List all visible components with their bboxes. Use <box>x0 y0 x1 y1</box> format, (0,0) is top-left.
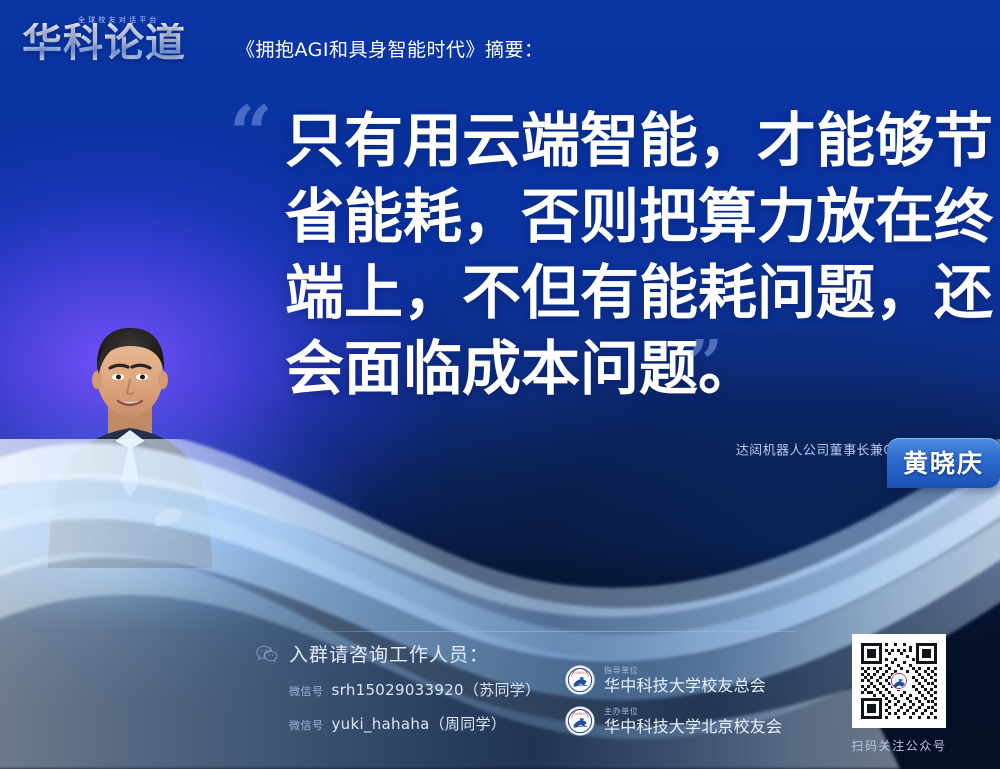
hust-seal-icon: 华中科技大学 <box>565 665 595 695</box>
svg-text:华中科技大学: 华中科技大学 <box>573 712 588 716</box>
quote-line: 会面临成本问题。 <box>285 331 945 407</box>
quote-open-mark: “ <box>229 104 273 165</box>
organization-row: 华中科技大学 指导单位 华中科技大学校友总会 <box>565 665 782 695</box>
quote-text: 只有用云端智能，才能够节 省能耗，否则把算力放在终 端上，不但有能耗问题，还 会… <box>285 103 945 407</box>
wechat-id[interactable]: yuki_hahaha（周同学） <box>332 713 507 734</box>
organization-texts: 主办单位 华中科技大学北京校友会 <box>604 708 782 735</box>
wechat-label: 微信号 <box>289 683 324 699</box>
quote-close-mark: ” <box>687 338 723 388</box>
contact-block: 入群请咨询工作人员： 微信号 srh15029033920（苏同学） 微信号 y… <box>256 640 586 747</box>
header-bar: 全球校友对话平台 华科论道 《拥抱AGI和具身智能时代》摘要： <box>0 0 1000 88</box>
contact-row: 微信号 srh15029033920（苏同学） <box>289 679 586 700</box>
qr-block: 扫码关注公众号 <box>845 634 953 754</box>
speaker-role: 达闼机器人公司董事长兼CEO <box>736 440 912 459</box>
organization-row: 华中科技大学 主办单位 华中科技大学北京校友会 <box>565 706 782 736</box>
organization-name: 华中科技大学北京校友会 <box>604 719 782 735</box>
logo-wordmark: 华科论道 <box>22 23 186 63</box>
qr-code-icon[interactable] <box>852 634 946 728</box>
speaker-name-badge: 黄晓庆 <box>887 438 1000 488</box>
quote-line: 省能耗，否则把算力放在终 <box>285 179 945 255</box>
contact-row: 微信号 yuki_hahaha（周同学） <box>289 713 586 734</box>
poster-canvas: 全球校友对话平台 华科论道 《拥抱AGI和具身智能时代》摘要： “ 只有用云端智… <box>0 0 1000 769</box>
wechat-icon <box>256 645 278 663</box>
organizations-block: 华中科技大学 指导单位 华中科技大学校友总会 华中科技大学 <box>565 665 782 747</box>
svg-text:华中科技大学: 华中科技大学 <box>573 671 588 675</box>
quote-line: 端上，不但有能耗问题，还 <box>285 255 945 331</box>
organization-kind: 主办单位 <box>604 708 782 716</box>
hust-seal-icon: 华中科技大学 <box>565 706 595 736</box>
contact-title: 入群请咨询工作人员： <box>289 640 489 667</box>
wechat-id[interactable]: srh15029033920（苏同学） <box>332 679 541 700</box>
page-title: 《拥抱AGI和具身智能时代》摘要： <box>236 35 544 62</box>
qr-caption: 扫码关注公众号 <box>845 737 953 754</box>
brand-logo[interactable]: 全球校友对话平台 华科论道 <box>22 13 222 75</box>
organization-texts: 指导单位 华中科技大学校友总会 <box>604 667 766 694</box>
organization-kind: 指导单位 <box>604 667 766 675</box>
organization-name: 华中科技大学校友总会 <box>604 678 766 694</box>
wechat-label: 微信号 <box>289 717 324 733</box>
footer-divider <box>286 631 796 632</box>
quote-line: 只有用云端智能，才能够节 <box>285 103 945 179</box>
contact-header: 入群请咨询工作人员： <box>256 640 586 667</box>
